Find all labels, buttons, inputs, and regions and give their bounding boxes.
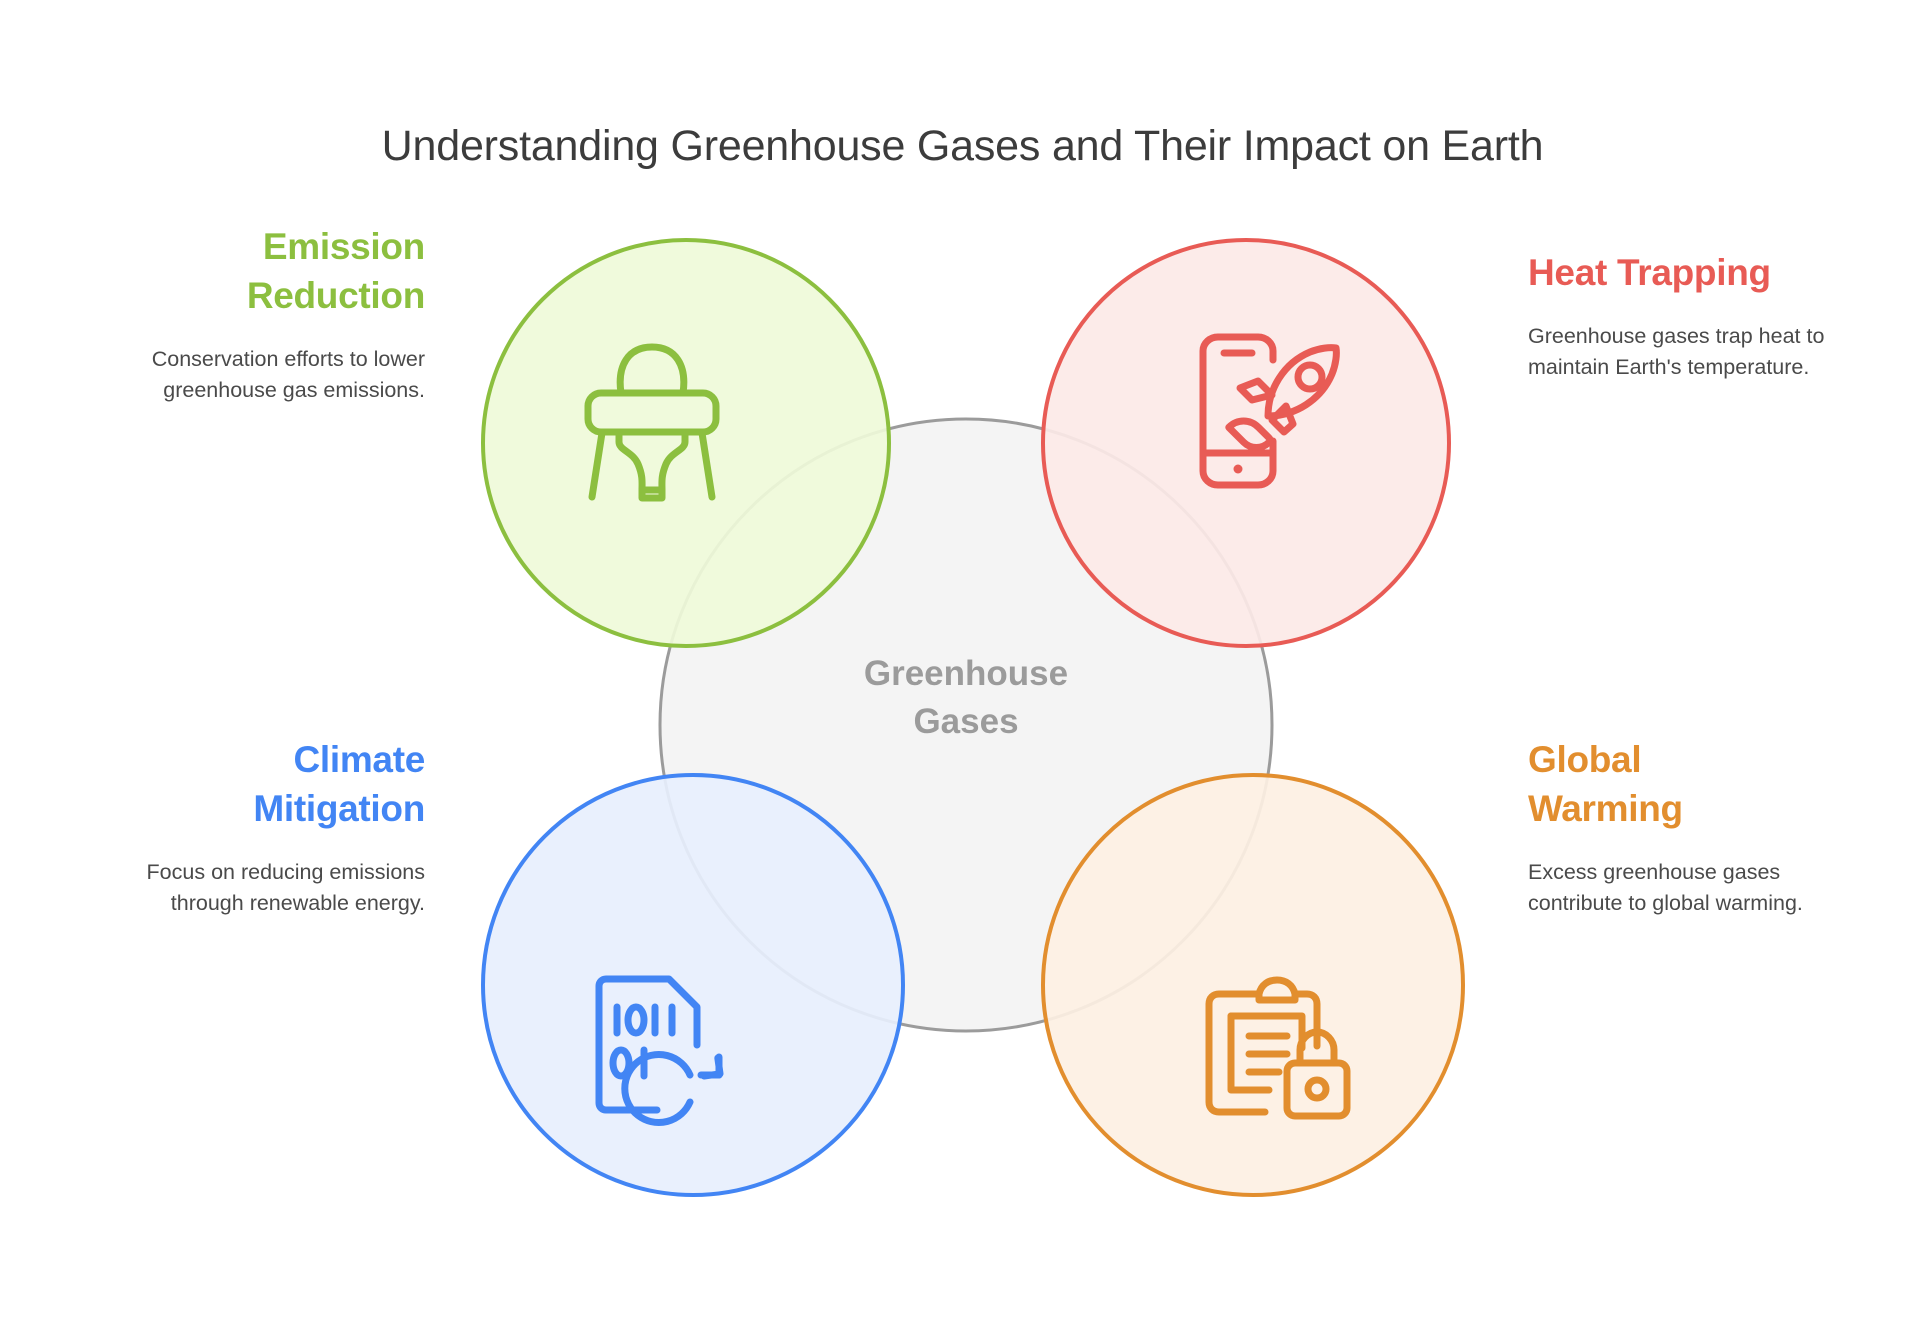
heading-line-2: Mitigation <box>85 784 425 833</box>
category-description-climate-mitigation: Focus on reducing emissions through rene… <box>85 857 425 918</box>
venn-circle-global-warming[interactable] <box>1043 775 1463 1195</box>
category-description-emission-reduction: Conservation efforts to lower greenhouse… <box>85 344 425 405</box>
category-block-heat-trapping: Heat Trapping Greenhouse gases trap heat… <box>1528 248 1868 382</box>
page-title: Understanding Greenhouse Gases and Their… <box>0 122 1925 171</box>
category-block-emission-reduction: Emission Reduction Conservation efforts … <box>85 222 425 405</box>
category-heading-heat-trapping: Heat Trapping <box>1528 248 1868 297</box>
venn-circle-heat-trapping[interactable] <box>1043 240 1449 646</box>
heading-line-1: Climate <box>85 735 425 784</box>
category-block-climate-mitigation: Climate Mitigation Focus on reducing emi… <box>85 735 425 918</box>
category-description-heat-trapping: Greenhouse gases trap heat to maintain E… <box>1528 321 1868 382</box>
category-description-global-warming: Excess greenhouse gases contribute to gl… <box>1528 857 1868 918</box>
category-heading-emission-reduction: Emission Reduction <box>85 222 425 320</box>
heading-line-2: Warming <box>1528 784 1868 833</box>
venn-circle-emission-reduction[interactable] <box>483 240 889 646</box>
category-heading-climate-mitigation: Climate Mitigation <box>85 735 425 833</box>
venn-diagram <box>0 0 1925 1325</box>
category-block-global-warming: Global Warming Excess greenhouse gases c… <box>1528 735 1868 918</box>
category-heading-global-warming: Global Warming <box>1528 735 1868 833</box>
heading-line-1: Emission <box>85 222 425 271</box>
heading-line-2: Reduction <box>85 271 425 320</box>
infographic-canvas: Understanding Greenhouse Gases and Their… <box>0 0 1925 1325</box>
heading-line-1: Heat Trapping <box>1528 248 1868 297</box>
heading-line-1: Global <box>1528 735 1868 784</box>
venn-circle-climate-mitigation[interactable] <box>483 775 903 1195</box>
